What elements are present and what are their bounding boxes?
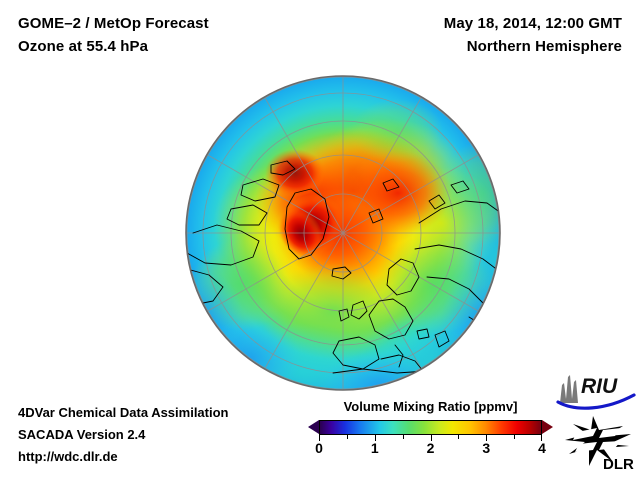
dlr-wordmark: DLR: [603, 456, 634, 472]
forecast-title: GOME–2 / MetOp Forecast: [18, 12, 348, 35]
colorbar-gradient: [319, 420, 542, 435]
riu-crown-icon: [560, 375, 578, 403]
colorbar-title: Volume Mixing Ratio [ppmv]: [308, 399, 553, 414]
dlr-logo-svg: DLR: [563, 414, 639, 472]
colorbar-tick-label: 1: [371, 440, 379, 456]
species-level-title: Ozone at 55.4 hPa: [18, 35, 348, 58]
riu-wordmark: RIU: [581, 375, 618, 398]
credits-block: 4DVar Chemical Data Assimilation SACADA …: [18, 402, 308, 468]
riu-logo-svg: RIU: [556, 369, 636, 413]
header-left-block: GOME–2 / MetOp Forecast Ozone at 55.4 hP…: [18, 12, 348, 58]
website-link[interactable]: http://wdc.dlr.de: [18, 446, 308, 468]
datetime-label: May 18, 2014, 12:00 GMT: [322, 12, 622, 35]
dlr-logo: DLR: [563, 414, 639, 472]
colorbar-tick-label: 3: [482, 440, 490, 456]
colorbar-minor-tick: [514, 435, 515, 439]
colorbar-tick-label: 0: [315, 440, 323, 456]
globe-svg: [183, 73, 503, 393]
riu-logo: RIU: [556, 369, 636, 413]
colorbar-tick-labels: 01234: [319, 440, 542, 458]
colorbar-tick-label: 2: [427, 440, 435, 456]
colorbar-under-arrow-icon: [308, 420, 319, 434]
colorbar-over-arrow-icon: [542, 420, 553, 434]
hemisphere-label: Northern Hemisphere: [322, 35, 622, 58]
colorbar-minor-tick: [403, 435, 404, 439]
colorbar: Volume Mixing Ratio [ppmv] 01234: [308, 399, 553, 438]
method-label: 4DVar Chemical Data Assimilation: [18, 402, 308, 424]
version-label: SACADA Version 2.4: [18, 424, 308, 446]
header-right-block: May 18, 2014, 12:00 GMT Northern Hemisph…: [322, 12, 622, 58]
colorbar-minor-tick: [347, 435, 348, 439]
colorbar-tick-label: 4: [538, 440, 546, 456]
ozone-globe-map: [183, 73, 503, 393]
colorbar-gradient-row: 01234: [308, 419, 553, 438]
colorbar-minor-tick: [458, 435, 459, 439]
